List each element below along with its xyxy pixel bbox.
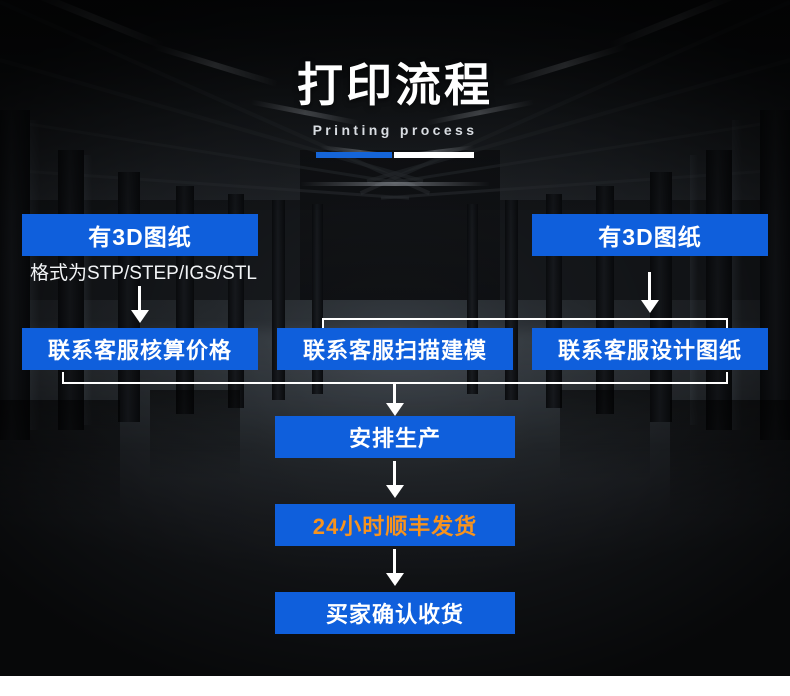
connector-line-shipping-to-receipt xyxy=(393,549,396,575)
down-arrow-icon xyxy=(386,573,404,586)
page-title: 打印流程 xyxy=(0,58,790,112)
drawing-format-note: 格式为STP/STEP/IGS/STL xyxy=(30,258,257,285)
down-arrow-icon xyxy=(641,300,659,313)
connector-line-left xyxy=(138,286,141,312)
box-contact-service-scan-model[interactable]: 联系客服扫描建模 xyxy=(277,328,513,370)
box-24h-sf-shipping[interactable]: 24小时顺丰发货 xyxy=(275,504,515,546)
underline-white-segment xyxy=(394,152,474,158)
page-subtitle: Printing process xyxy=(0,122,790,138)
down-arrow-icon xyxy=(386,403,404,416)
title-underline xyxy=(0,152,790,158)
box-contact-service-design-drawing[interactable]: 联系客服设计图纸 xyxy=(532,328,768,370)
connector-line-production-to-shipping xyxy=(393,461,396,487)
box-has-3d-drawing-left[interactable]: 有3D图纸 xyxy=(22,214,258,256)
box-contact-service-quote[interactable]: 联系客服核算价格 xyxy=(22,328,258,370)
merge-bracket-icon xyxy=(322,318,728,328)
box-buyer-confirm-receipt[interactable]: 买家确认收货 xyxy=(275,592,515,634)
printing-process-infographic: 打印流程 Printing process 有3D图纸 有3D图纸 格式为STP… xyxy=(0,0,790,696)
down-arrow-icon xyxy=(131,310,149,323)
box-has-3d-drawing-right[interactable]: 有3D图纸 xyxy=(532,214,768,256)
box-arrange-production[interactable]: 安排生产 xyxy=(275,416,515,458)
down-arrow-icon xyxy=(386,485,404,498)
header-block: 打印流程 Printing process xyxy=(0,58,790,138)
connector-line-to-production xyxy=(393,383,396,405)
underline-blue-segment xyxy=(316,152,392,158)
connector-line-right xyxy=(648,272,651,302)
